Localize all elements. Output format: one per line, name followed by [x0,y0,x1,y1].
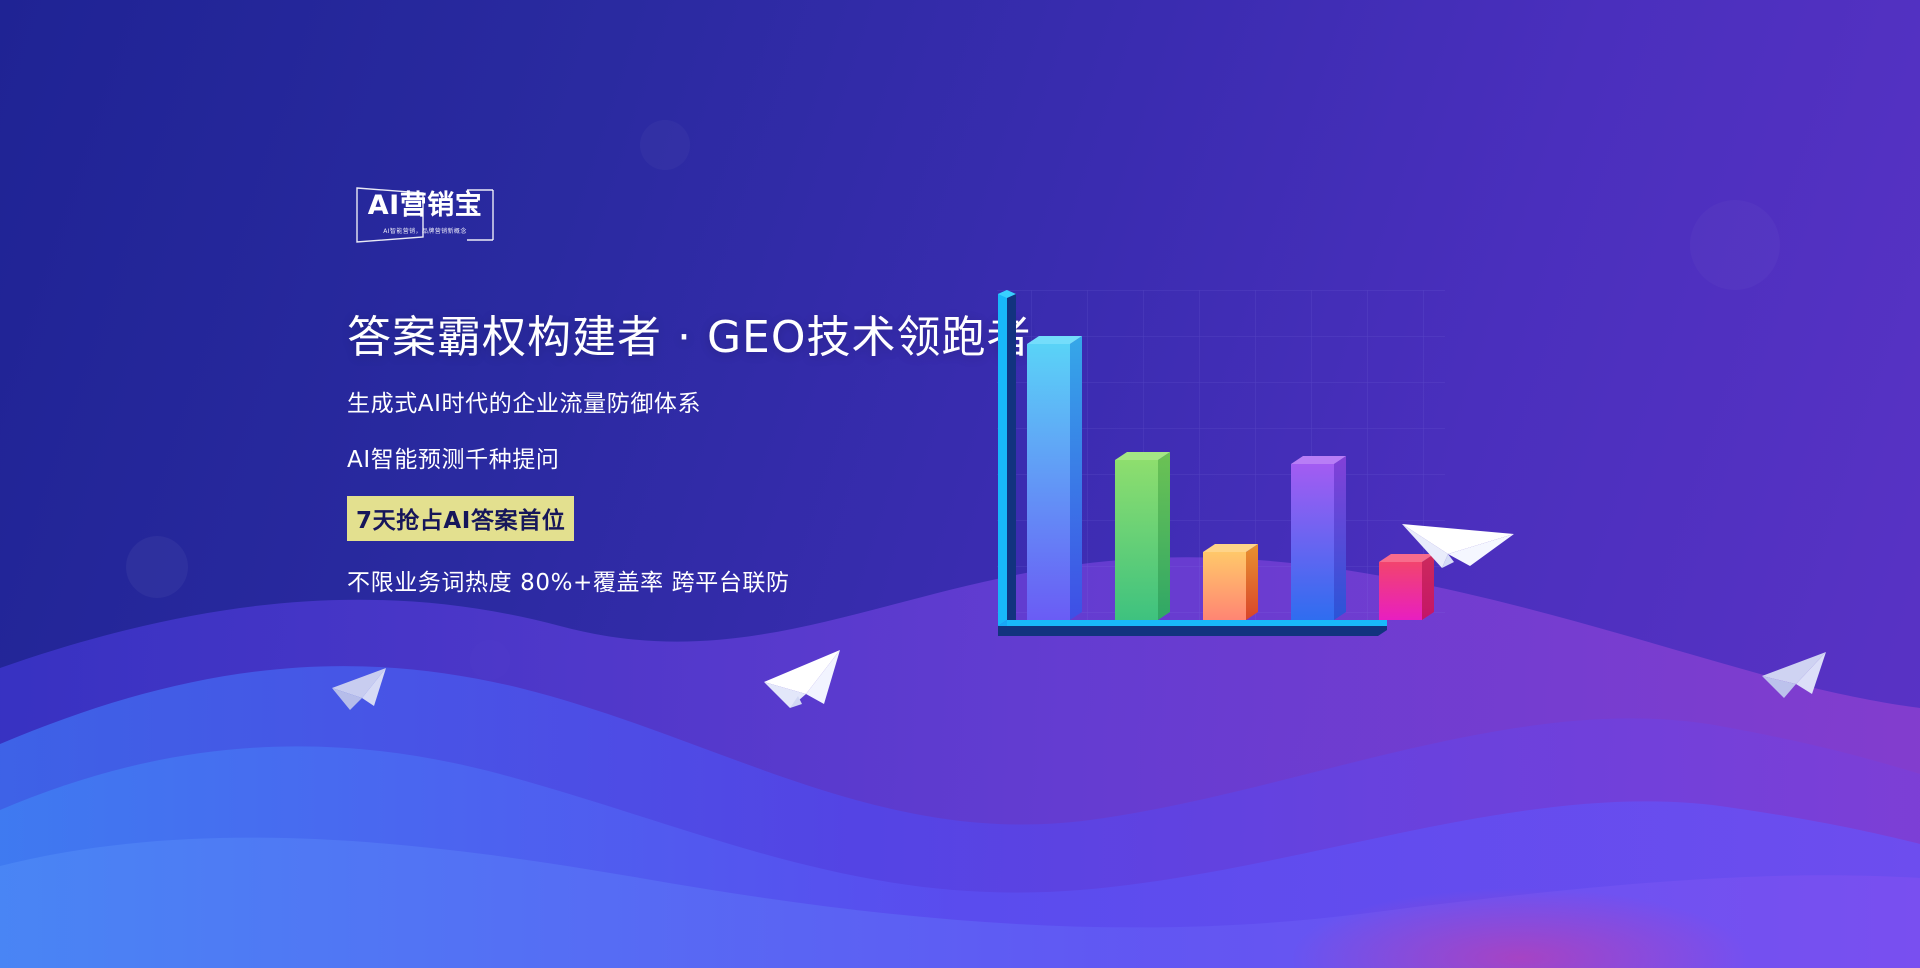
hero-highlight-badge: 7天抢占AI答案首位 [347,496,574,541]
bar-chart-illustration [975,290,1445,665]
logo-tagline: AI智能营销，品牌营销新概念 [355,226,495,235]
decor-circle [640,120,690,170]
paper-plane-icon [762,648,862,720]
hero-copy: 答案霸权构建者 · GEO技术领跑者 生成式AI时代的企业流量防御体系 AI智能… [347,312,1047,597]
paper-plane-icon [1398,500,1518,580]
logo-wordmark: AI营销宝 [355,192,495,219]
paper-plane-icon [1760,650,1840,708]
decor-circle [1690,200,1780,290]
wave-decoration [0,548,1920,968]
hero-banner: AI营销宝 AI智能营销，品牌营销新概念 答案霸权构建者 · GEO技术领跑者 … [0,0,1920,968]
hero-subtitle-3: 不限业务词热度 80%+覆盖率 跨平台联防 [347,563,1047,597]
hero-subtitle-1: 生成式AI时代的企业流量防御体系 [347,384,1047,418]
paper-plane-icon [330,666,400,718]
hero-subtitle-2: AI智能预测千种提问 [347,440,1047,474]
hero-highlight-wrap: 7天抢占AI答案首位 [347,496,1047,541]
brand-logo[interactable]: AI营销宝 AI智能营销，品牌营销新概念 [355,186,495,244]
page-title: 答案霸权构建者 · GEO技术领跑者 [347,312,1047,364]
